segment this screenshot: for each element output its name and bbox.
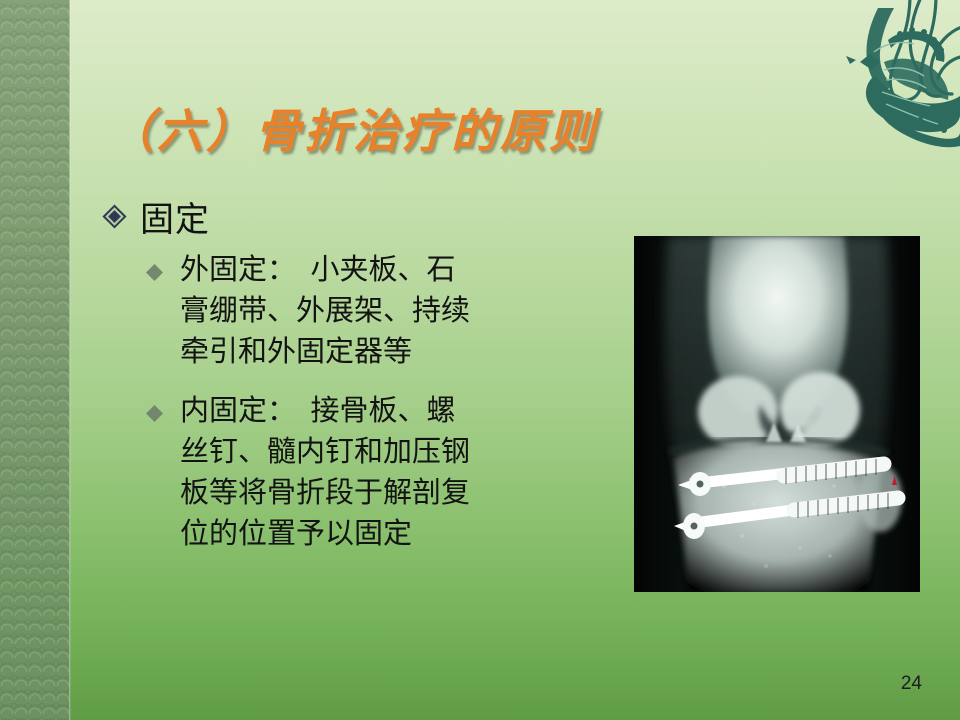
left-decorative-band (0, 0, 70, 720)
diamond-bullet-icon (110, 198, 140, 226)
slide-title: （六）骨折治疗的原则 (108, 95, 598, 161)
xray-graphic (634, 236, 920, 592)
phoenix-corner-ornament (760, 0, 960, 175)
slide-body: 固定 外固定： 小夹板、石膏绷带、外展架、持续牵引和外固定器等 内固定： 接骨板… (110, 198, 580, 573)
page-number: 24 (901, 673, 922, 695)
knee-xray-image (634, 236, 920, 592)
bullet-level1: 固定 (110, 198, 580, 242)
band-edge-highlight (69, 0, 71, 720)
small-diamond-bullet-icon (152, 250, 180, 280)
bullet-level1-label: 固定 (140, 198, 210, 242)
bullet-level2-label: 外固定： 小夹板、石膏绷带、外展架、持续牵引和外固定器等 (180, 250, 482, 373)
presentation-slide: （六）骨折治疗的原则 固定 外固定： 小夹板、石膏绷带、外展架、持续牵引和外固定… (0, 0, 960, 720)
bullet-level2-group: 外固定： 小夹板、石膏绷带、外展架、持续牵引和外固定器等 内固定： 接骨板、螺丝… (152, 250, 580, 555)
bullet-level2-external-fixation: 外固定： 小夹板、石膏绷带、外展架、持续牵引和外固定器等 (152, 250, 580, 373)
bullet-level2-label: 内固定： 接骨板、螺丝钉、髓内钉和加压钢板等将骨折段于解剖复位的位置予以固定 (180, 391, 482, 555)
bullet-level2-internal-fixation: 内固定： 接骨板、螺丝钉、髓内钉和加压钢板等将骨折段于解剖复位的位置予以固定 (152, 391, 580, 555)
small-diamond-bullet-icon (152, 391, 180, 421)
